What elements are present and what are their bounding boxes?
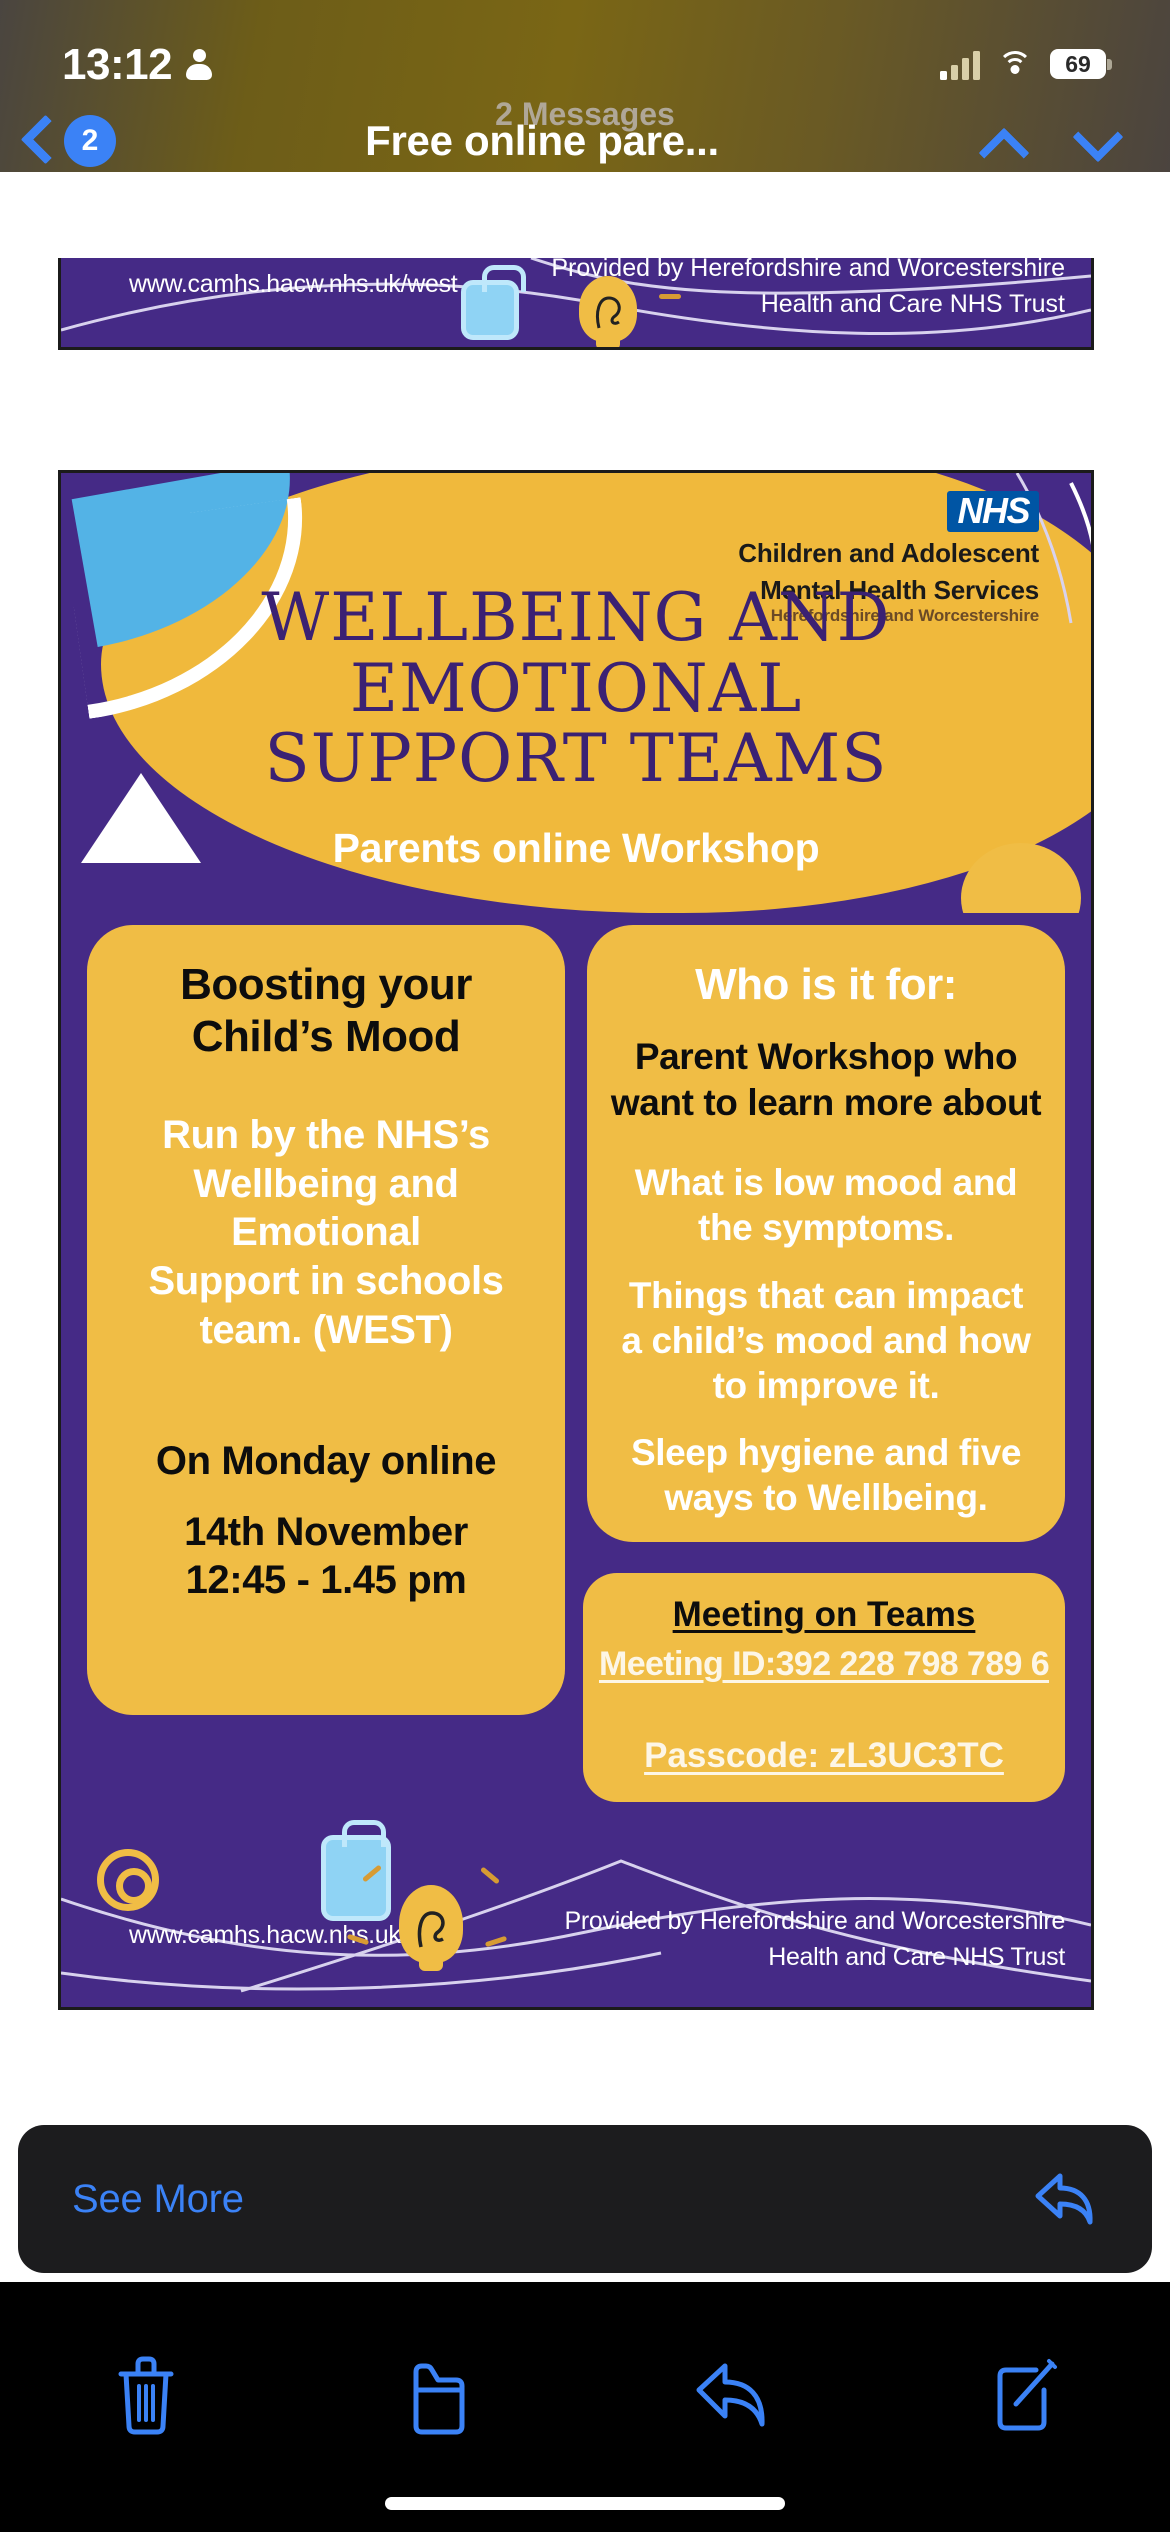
left-card-runby-line4: Support in schools	[109, 1257, 543, 1306]
back-button[interactable]: 2	[24, 115, 116, 167]
phone-screen: www.camhs.hacw.nhs.uk/west Provided by H…	[0, 0, 1170, 2532]
left-card-when-line1: On Monday online	[109, 1437, 543, 1486]
poster-footer: www.camhs.hacw.nhs.uk/west Provided by H…	[61, 1857, 1091, 2007]
reply-arrow-icon[interactable]	[1032, 2170, 1098, 2228]
battery-icon: 69	[1050, 49, 1112, 81]
wifi-icon	[997, 51, 1033, 79]
chevron-up-icon[interactable]	[978, 121, 1024, 161]
spiral-decor-icon	[97, 1849, 159, 1911]
right-card-point3-line2: ways to Wellbeing.	[609, 1475, 1043, 1520]
message-navigation	[978, 121, 1118, 161]
see-more-button[interactable]: See More	[72, 2177, 244, 2222]
left-info-card: Boosting your Child’s Mood Run by the NH…	[87, 925, 565, 1715]
poster-top-provided-line1: Provided by Herefordshire and Worcesters…	[551, 258, 1065, 286]
right-card-intro-line1: Parent Workshop who	[609, 1034, 1043, 1080]
right-card-point1-line2: the symptoms.	[609, 1205, 1043, 1250]
teams-card-title: Meeting on Teams	[597, 1595, 1051, 1635]
trash-icon[interactable]	[98, 2346, 194, 2446]
poster-top-url: www.camhs.hacw.nhs.uk/west	[129, 270, 457, 299]
poster-title-line1: WELLBEING AND	[61, 583, 1091, 654]
poster-footer-provided-line1: Provided by Herefordshire and Worcesters…	[565, 1903, 1065, 1939]
poster-title-line3: SUPPORT TEAMS	[61, 724, 1091, 795]
reply-arrow-icon[interactable]	[683, 2346, 779, 2446]
cellular-signal-icon	[940, 50, 980, 80]
left-card-heading-line2: Child’s Mood	[109, 1011, 543, 1063]
left-card-runby-line5: team. (WEST)	[109, 1306, 543, 1355]
poster-footer-provided: Provided by Herefordshire and Worcesters…	[565, 1903, 1065, 1976]
left-card-runby-line1: Run by the NHS’s	[109, 1111, 543, 1160]
backpack-icon	[461, 280, 519, 340]
folder-icon[interactable]	[391, 2346, 487, 2446]
teams-meeting-id: Meeting ID:392 228 798 789 6	[597, 1645, 1051, 1684]
lightbulb-ray	[485, 1936, 507, 1948]
teams-passcode: Passcode: zL3UC3TC	[597, 1736, 1051, 1776]
right-card-point2-line3: to improve it.	[609, 1363, 1043, 1408]
status-bar-left: 13:12	[62, 40, 212, 90]
nhs-service-line1: Children and Adolescent	[738, 538, 1039, 569]
message-scroll-area[interactable]: www.camhs.hacw.nhs.uk/west Provided by H…	[0, 0, 1170, 2095]
home-indicator[interactable]	[385, 2497, 785, 2510]
battery-level-label: 69	[1065, 51, 1091, 78]
poster-title: WELLBEING AND EMOTIONAL SUPPORT TEAMS	[61, 583, 1091, 795]
left-card-runby-line3: Emotional	[109, 1208, 543, 1257]
nhs-logo: NHS	[947, 491, 1039, 532]
person-icon	[186, 49, 212, 81]
see-more-bar[interactable]: See More	[18, 2125, 1152, 2273]
poster-top-provided: Provided by Herefordshire and Worcesters…	[551, 258, 1065, 323]
status-bar-right: 69	[940, 49, 1112, 81]
status-bar: 13:12 69	[0, 0, 1170, 100]
compose-icon[interactable]	[976, 2346, 1072, 2446]
backpack-icon	[321, 1835, 391, 1921]
clock-label: 13:12	[62, 40, 172, 90]
right-card-heading: Who is it for:	[609, 959, 1043, 1012]
poster-header: NHS Children and Adolescent Mental Healt…	[61, 473, 1091, 913]
poster-subtitle: Parents online Workshop	[61, 825, 1091, 872]
right-card-intro-line2: want to learn more about	[609, 1080, 1043, 1126]
right-card-point3-line1: Sleep hygiene and five	[609, 1430, 1043, 1475]
previous-poster-footer[interactable]: www.camhs.hacw.nhs.uk/west Provided by H…	[58, 258, 1094, 350]
page-title: Free online pare...	[106, 117, 978, 165]
chevron-left-icon[interactable]	[24, 118, 50, 164]
poster-title-line2: EMOTIONAL	[61, 654, 1091, 725]
navigation-bar: 2 Free online pare...	[0, 110, 1170, 172]
poster-footer-provided-line2: Health and Care NHS Trust	[565, 1939, 1065, 1975]
left-card-runby-line2: Wellbeing and	[109, 1160, 543, 1209]
lightbulb-ray	[480, 1867, 500, 1885]
poster-top-provided-line2: Health and Care NHS Trust	[551, 286, 1065, 322]
teams-meeting-card: Meeting on Teams Meeting ID:392 228 798 …	[583, 1573, 1065, 1802]
left-card-when-line2: 14th November	[109, 1508, 543, 1557]
right-info-card: Who is it for: Parent Workshop who want …	[587, 925, 1065, 1542]
bottom-toolbar	[0, 2282, 1170, 2532]
lightbulb-icon	[399, 1885, 463, 1963]
right-card-point2-line2: a child’s mood and how	[609, 1318, 1043, 1363]
workshop-poster-image[interactable]: NHS Children and Adolescent Mental Healt…	[58, 470, 1094, 2010]
chevron-down-icon[interactable]	[1072, 121, 1118, 161]
left-card-when-line3: 12:45 - 1.45 pm	[109, 1556, 543, 1605]
right-card-point1-line1: What is low mood and	[609, 1160, 1043, 1205]
right-card-point2-line1: Things that can impact	[609, 1273, 1043, 1318]
left-card-heading-line1: Boosting your	[109, 959, 543, 1011]
